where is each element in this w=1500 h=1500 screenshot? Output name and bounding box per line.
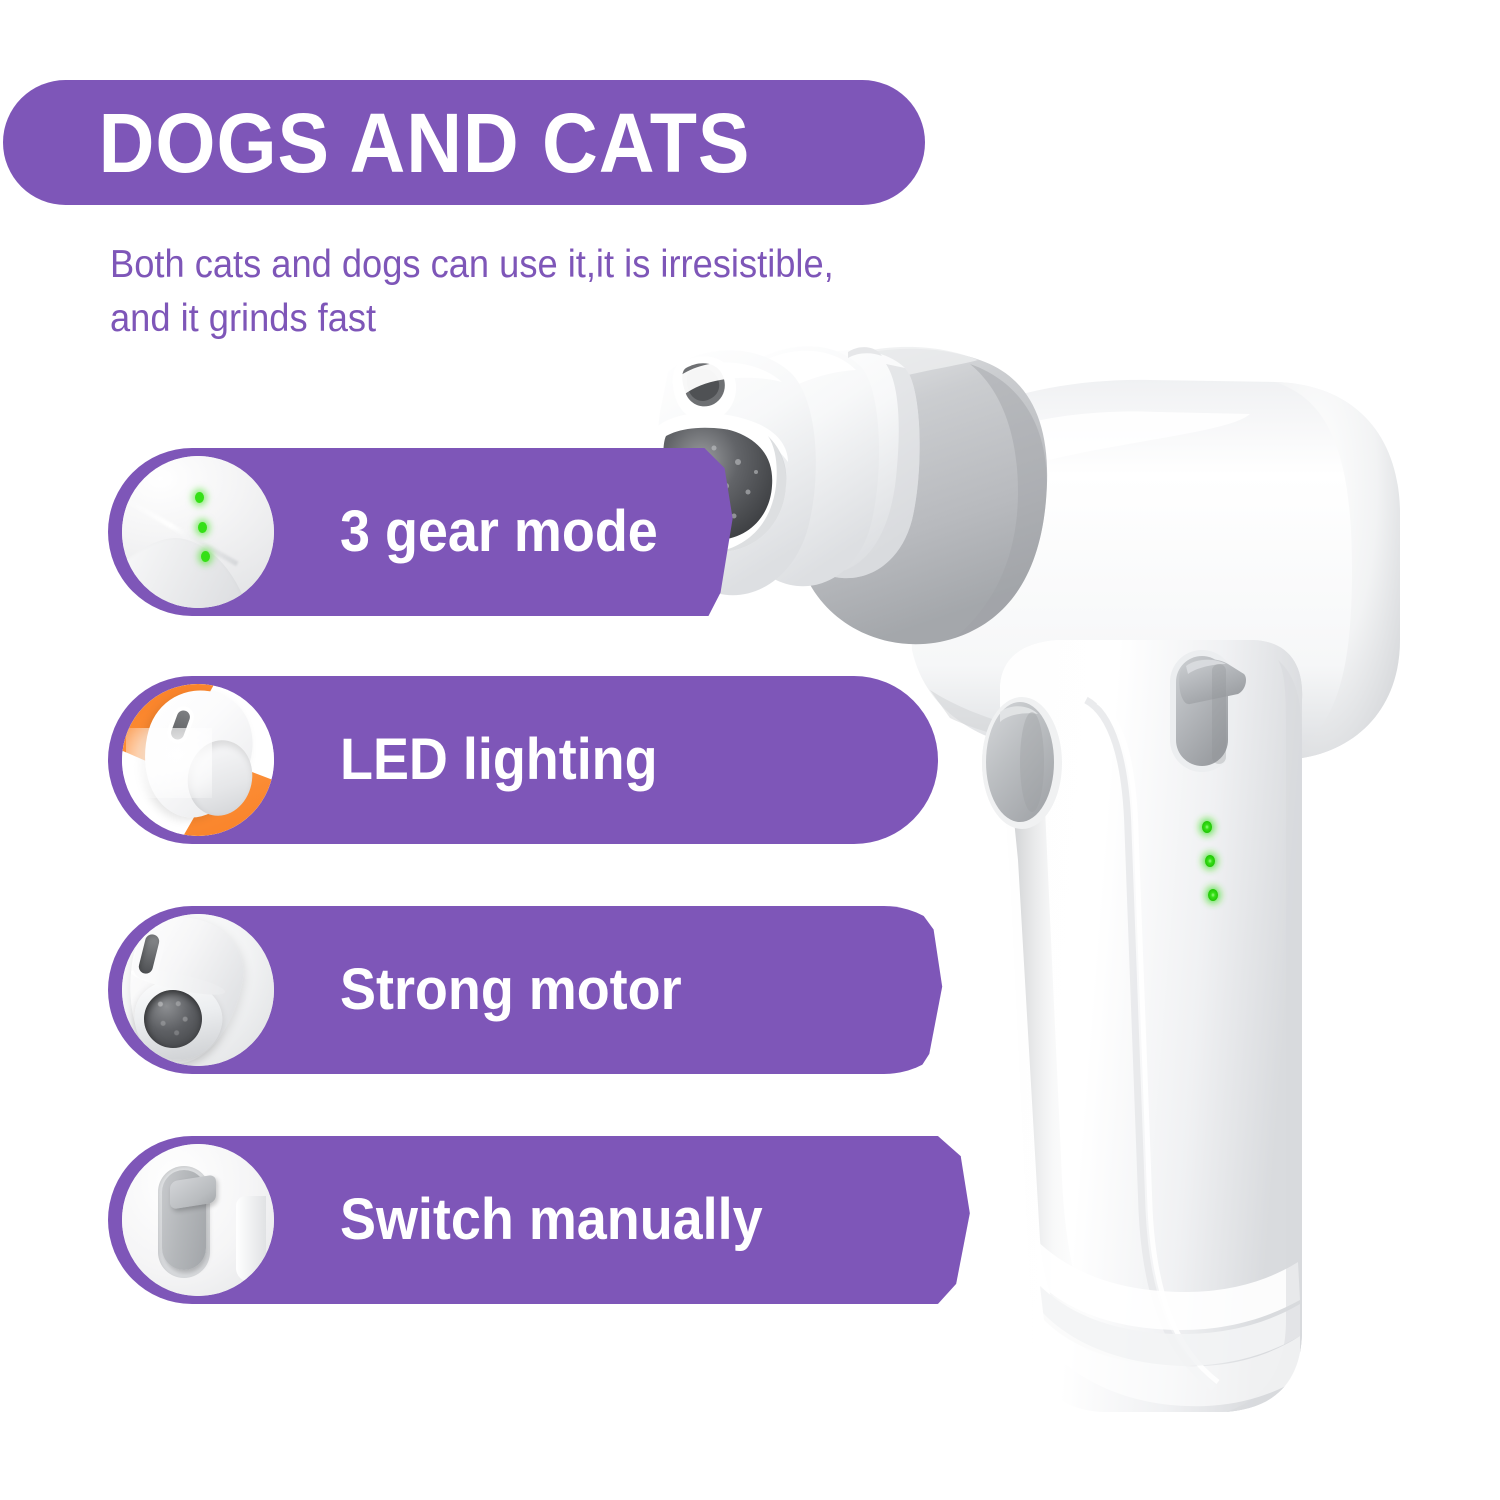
feature-thumbnail-led-lighting	[122, 684, 274, 836]
feature-pill-strong-motor[interactable]: Strong motor	[108, 906, 968, 1074]
feature-label-led-lighting: LED lighting	[340, 731, 658, 789]
feature-label-strong-motor: Strong motor	[340, 961, 682, 1019]
feature-pill-switch-manually[interactable]: Switch manually	[108, 1136, 1020, 1304]
infographic-page: DOGS AND CATS Both cats and dogs can use…	[0, 0, 1500, 1500]
feature-thumbnail-switch-manually	[122, 1144, 274, 1296]
thumb-led-dot-3	[201, 551, 210, 562]
feature-pill-led-lighting[interactable]: LED lighting	[108, 676, 938, 844]
thumb-led-dot-2	[198, 522, 207, 533]
thumb-led-dot-1	[195, 492, 204, 503]
feature-thumbnail-strong-motor	[122, 914, 274, 1066]
feature-thumbnail-gear-mode	[122, 456, 274, 608]
feature-pill-gear-mode[interactable]: 3 gear mode	[108, 448, 914, 616]
feature-label-gear-mode: 3 gear mode	[340, 503, 658, 561]
feature-list: 3 gear mode LED lighting	[0, 0, 1500, 1500]
feature-label-switch-manually: Switch manually	[340, 1191, 763, 1249]
